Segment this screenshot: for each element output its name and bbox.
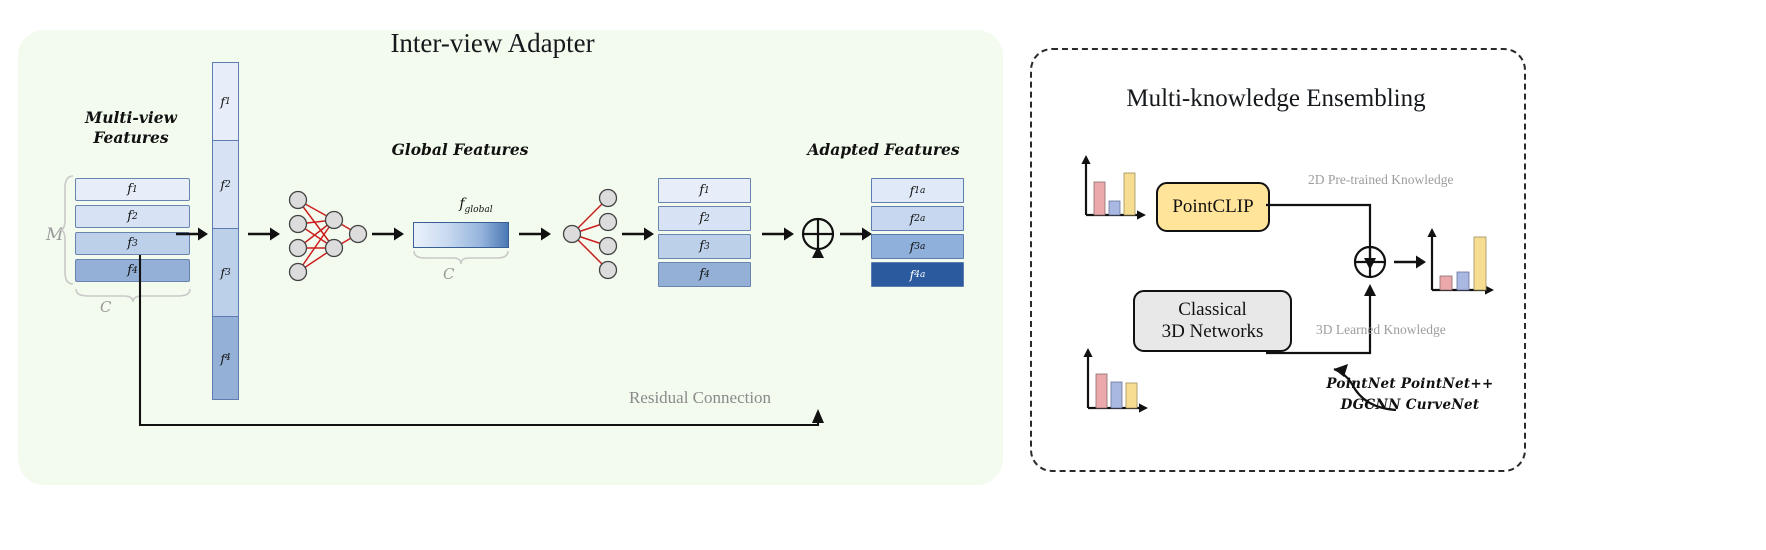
multi-view-row-3: f3 <box>75 232 190 255</box>
backbone-row-2: DGCNN CurveNet <box>1300 395 1520 416</box>
arrow-right-icon <box>176 225 208 243</box>
global-feature-bar <box>413 222 509 248</box>
residual-connection-path <box>130 255 830 445</box>
multi-view-row-1: f1 <box>75 178 190 201</box>
residual-arrow-head-icon <box>811 246 825 260</box>
adapted-row-1: f1 <box>658 178 751 203</box>
multi-view-features-caption: Multi-view Features <box>46 108 216 149</box>
bar-chart-bottom-icon <box>1080 348 1150 420</box>
sum-operator-icon <box>1350 242 1390 282</box>
caption-line-1: Multi-view <box>46 108 216 128</box>
f-superscript: a <box>920 242 925 252</box>
arrow-right-icon <box>840 225 872 243</box>
backbone-row-1: PointNet PointNet++ <box>1300 374 1520 395</box>
global-feature-label: fglobal <box>436 196 516 215</box>
output-row-1: f1a <box>871 178 964 203</box>
arrow-right-icon <box>762 225 794 243</box>
residual-connection-label: Residual Connection <box>600 388 800 408</box>
brace-m-icon <box>58 174 76 286</box>
f-superscript: a <box>920 270 925 280</box>
concat-cell-1: f1 <box>212 62 239 140</box>
global-features-caption: Global Features <box>390 140 530 160</box>
output-adapted-feature-stack: f1af2af3af4a <box>871 178 964 290</box>
bar-chart-top-icon <box>1078 155 1148 227</box>
pointclip-box[interactable]: PointCLIP <box>1156 182 1270 232</box>
f-subscript: 3 <box>132 239 138 249</box>
arrow-right-icon <box>372 225 404 243</box>
output-row-3: f3a <box>871 234 964 259</box>
arrow-right-icon <box>622 225 654 243</box>
multi-view-row-2: f2 <box>75 205 190 228</box>
adapted-row-2: f2 <box>658 206 751 231</box>
arrow-right-icon <box>1394 253 1426 271</box>
f-subscript: 1 <box>132 185 138 195</box>
classical-label-line-1: Classical <box>1178 299 1247 320</box>
f-subscript: 1 <box>704 186 710 196</box>
page-title-inter-view-adapter: Inter-view Adapter <box>0 28 985 59</box>
label-3d-learned-knowledge: 3D Learned Knowledge <box>1316 322 1446 338</box>
f-subscript: 2 <box>132 212 138 222</box>
output-row-2: f2a <box>871 206 964 231</box>
f-subscript: 1 <box>225 97 231 107</box>
label-2d-pretrained-knowledge: 2D Pre-trained Knowledge <box>1308 172 1453 188</box>
f-superscript: a <box>920 186 925 196</box>
arrow-right-icon <box>248 225 280 243</box>
concat-cell-2: f2 <box>212 140 239 228</box>
f-superscript: a <box>920 214 925 224</box>
bar-chart-output-icon <box>1424 228 1500 304</box>
global-subscript: global <box>465 205 493 215</box>
output-row-4: f4a <box>871 262 964 287</box>
adapted-features-caption: Adapted Features <box>806 140 961 160</box>
arrow-right-icon <box>519 225 551 243</box>
f-subscript: 3 <box>704 242 710 252</box>
classical-label-line-2: 3D Networks <box>1162 321 1264 342</box>
backbone-list: PointNet PointNet++ DGCNN CurveNet <box>1300 374 1520 416</box>
page-title-multi-knowledge-ensembling: Multi-knowledge Ensembling <box>1030 85 1522 113</box>
f-subscript: 2 <box>704 214 710 224</box>
f-subscript: 2 <box>225 180 231 190</box>
caption-line-2: Features <box>46 128 216 148</box>
